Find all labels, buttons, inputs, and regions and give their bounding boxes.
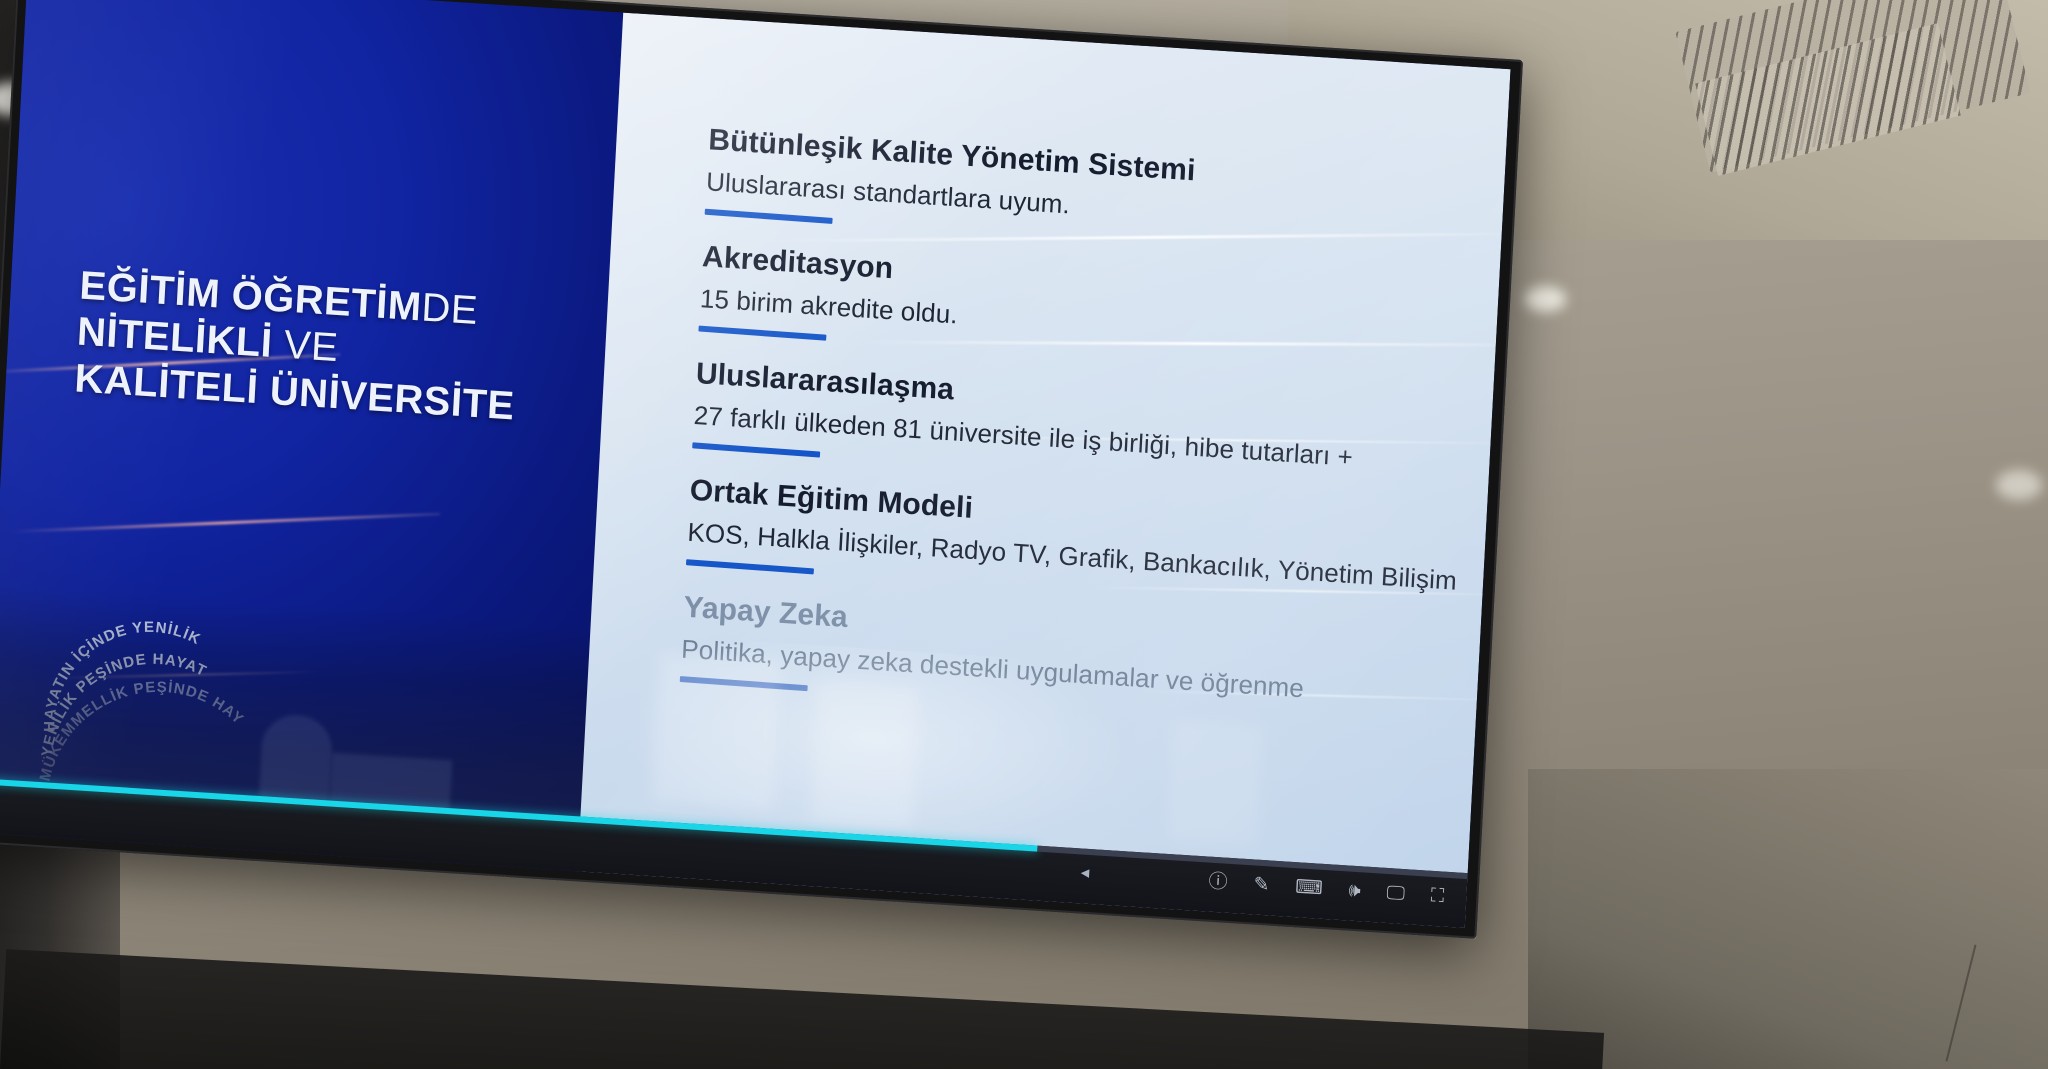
light-streak-4 xyxy=(1092,586,1511,596)
glare-reflection-1 xyxy=(653,653,781,810)
circular-logo-badge: HAYATIN İÇİNDE YENİLİK YENİLİK PEŞİNDE H… xyxy=(36,614,246,776)
fullscreen-icon[interactable]: ⛶ xyxy=(1430,887,1444,907)
item-heading: Akreditasyon xyxy=(701,240,1466,323)
list-item: Uluslararasılaşma 27 farklı ülkeden 81 ü… xyxy=(692,357,1460,498)
badge-text-mid: YENİLİK PEŞİNDE HAYAT xyxy=(32,648,215,759)
list-item: Akreditasyon 15 birim akredite oldu. xyxy=(698,240,1466,381)
glare-streak-2 xyxy=(11,513,440,534)
item-detail: 27 farklı ülkeden 81 üniversite ile iş b… xyxy=(693,400,1457,480)
item-divider xyxy=(698,325,826,340)
slide-bullet-list: Bütünleşik Kalite Yönetim Sistemi Ulusla… xyxy=(678,123,1472,756)
ceiling-light-2 xyxy=(1524,286,1566,312)
slide-title-line-1-light: DE xyxy=(420,285,479,333)
slide-title-line-1: EĞİTİM ÖĞRETİMDE xyxy=(78,262,557,339)
list-item: Bütünleşik Kalite Yönetim Sistemi Ulusla… xyxy=(704,123,1472,264)
item-heading: Yapay Zeka xyxy=(683,591,1448,674)
wall-corner-lower-right xyxy=(1528,769,2048,1069)
taskbar-icons: ⓘ ✎ ⌨ 🕪 🖵 ⛶ xyxy=(1208,872,1445,906)
item-heading: Ortak Eğitim Modeli xyxy=(689,474,1454,557)
display-screen: EĞİTİM ÖĞRETİMDE NİTELİKLİ VE KALİTELİ Ü… xyxy=(0,0,1511,928)
glare-streak-1 xyxy=(0,353,341,374)
badge-text-top: HAYATIN İÇİNDE YENİLİK xyxy=(34,616,210,734)
item-detail: Uluslararası standartlara uyum. xyxy=(705,166,1469,246)
item-detail: Politika, yapay zeka destekli uygulamala… xyxy=(681,634,1445,714)
list-item: Ortak Eğitim Modeli KOS, Halkla İlişkile… xyxy=(686,474,1454,615)
item-divider xyxy=(680,676,808,691)
photo-scene: EĞİTİM ÖĞRETİMDE NİTELİKLİ VE KALİTELİ Ü… xyxy=(0,0,2048,1069)
glare-reflection-2 xyxy=(812,680,919,826)
slide-title-line-2-strong: NİTELİKLİ xyxy=(76,310,274,366)
prev-slide-button[interactable]: ◂ xyxy=(1080,863,1090,884)
slide-right-panel: Bütünleşik Kalite Yönetim Sistemi Ulusla… xyxy=(578,13,1511,928)
volume-icon[interactable]: 🕪 xyxy=(1348,881,1361,901)
ceiling-light-3 xyxy=(1996,470,2042,500)
item-detail: KOS, Halkla İlişkiler, Radyo TV, Grafik,… xyxy=(687,517,1451,597)
light-streak-2 xyxy=(856,341,1511,347)
present-icon[interactable]: 🖵 xyxy=(1386,884,1405,904)
item-heading: Bütünleşik Kalite Yönetim Sistemi xyxy=(708,123,1473,206)
slide-title: EĞİTİM ÖĞRETİMDE NİTELİKLİ VE KALİTELİ Ü… xyxy=(73,262,557,431)
wall-mounted-display: EĞİTİM ÖĞRETİMDE NİTELİKLİ VE KALİTELİ Ü… xyxy=(0,0,1523,939)
info-icon[interactable]: ⓘ xyxy=(1208,872,1228,892)
light-streak-3 xyxy=(940,436,1511,445)
item-divider xyxy=(704,209,832,224)
item-heading: Uluslararasılaşma xyxy=(695,357,1460,440)
item-detail: 15 birim akredite oldu. xyxy=(699,283,1463,363)
slide-title-line-1-strong: EĞİTİM ÖĞRETİM xyxy=(79,263,423,329)
badge-text-bottom: MÜKEMMELLİK PEŞİNDE HAYAT xyxy=(26,601,251,785)
glare-streak-3 xyxy=(50,671,319,679)
item-divider xyxy=(686,559,814,574)
light-streak-5 xyxy=(1139,690,1510,701)
slide-title-line-2: NİTELİKLİ VE xyxy=(76,309,555,386)
list-item: Yapay Zeka Politika, yapay zeka destekli… xyxy=(680,591,1448,732)
glare-reflection-3 xyxy=(1167,720,1263,846)
light-streak-1 xyxy=(773,232,1511,242)
slide-title-line-3: KALİTELİ ÜNİVERSİTE xyxy=(73,355,552,432)
slide-title-line-3-strong: KALİTELİ ÜNİVERSİTE xyxy=(74,356,516,428)
slide-left-panel: EĞİTİM ÖĞRETİMDE NİTELİKLİ VE KALİTELİ Ü… xyxy=(0,0,624,871)
pen-icon[interactable]: ✎ xyxy=(1253,875,1270,895)
item-divider xyxy=(692,442,820,457)
display-bezel: EĞİTİM ÖĞRETİMDE NİTELİKLİ VE KALİTELİ Ü… xyxy=(0,0,1523,939)
keyboard-icon[interactable]: ⌨ xyxy=(1295,878,1323,899)
slide-title-line-2-light: VE xyxy=(271,322,339,370)
